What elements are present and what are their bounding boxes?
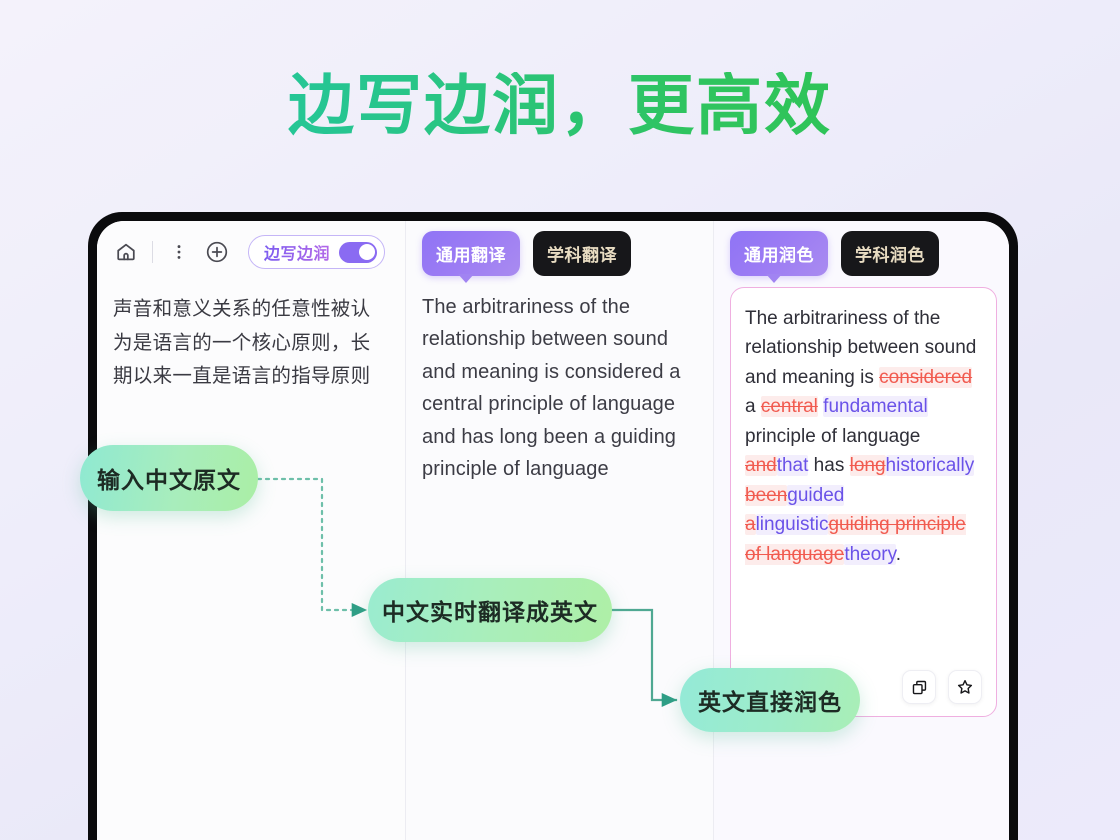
- app-toolbar: 边写边润: [97, 221, 405, 283]
- source-column: 边写边润 声音和意义关系的任意性被认为是语言的一个核心原则，长期以来一直是语言的…: [97, 221, 405, 840]
- mode-toggle-label: 边写边润: [264, 240, 330, 264]
- diff-unchanged: .: [896, 544, 901, 565]
- tab-subject-translation[interactable]: 学科翻译: [533, 231, 631, 276]
- mode-toggle-switch[interactable]: [339, 242, 377, 263]
- home-icon[interactable]: [113, 239, 139, 265]
- diff-insertion: guided: [787, 485, 844, 506]
- toolbar-divider: [152, 241, 153, 263]
- star-icon[interactable]: [948, 670, 982, 704]
- app-screen: 边写边润 声音和意义关系的任意性被认为是语言的一个核心原则，长期以来一直是语言的…: [97, 221, 1009, 840]
- more-vertical-icon[interactable]: [166, 239, 192, 265]
- diff-unchanged: principle of language: [745, 426, 920, 447]
- callout-input-chinese: 输入中文原文: [80, 445, 258, 511]
- diff-deletion: considered: [879, 367, 972, 388]
- source-text[interactable]: 声音和意义关系的任意性被认为是语言的一个核心原则，长期以来一直是语言的指导原则: [97, 283, 405, 394]
- diff-deletion: central: [761, 396, 818, 417]
- mode-toggle[interactable]: 边写边润: [248, 235, 385, 269]
- plus-circle-icon[interactable]: [204, 239, 230, 265]
- tab-general-translation[interactable]: 通用翻译: [422, 231, 520, 276]
- polish-result-card: The arbitrariness of the relationship be…: [730, 287, 997, 717]
- translation-tabs: 通用翻译 学科翻译: [406, 221, 713, 283]
- diff-deletion: been: [745, 485, 787, 506]
- diff-insertion: historically: [886, 455, 975, 476]
- callout-direct-polish: 英文直接润色: [680, 668, 860, 732]
- diff-deletion: and: [745, 455, 777, 476]
- diff-unchanged: a: [745, 396, 761, 417]
- tab-general-polish[interactable]: 通用润色: [730, 231, 828, 276]
- copy-icon[interactable]: [902, 670, 936, 704]
- tab-subject-polish[interactable]: 学科润色: [841, 231, 939, 276]
- device-frame: 边写边润 声音和意义关系的任意性被认为是语言的一个核心原则，长期以来一直是语言的…: [88, 212, 1018, 840]
- polish-diff-text: The arbitrariness of the relationship be…: [745, 304, 982, 660]
- polish-column: 通用润色 学科润色 The arbitrariness of the relat…: [713, 221, 1009, 840]
- page-title: 边写边润，更高效: [0, 72, 1120, 138]
- diff-insertion: linguistic: [756, 514, 829, 535]
- polish-tabs: 通用润色 学科润色: [714, 221, 1009, 283]
- diff-unchanged: has: [808, 455, 849, 476]
- translation-column: 通用翻译 学科翻译 The arbitrariness of the relat…: [405, 221, 713, 840]
- diff-insertion: theory: [844, 544, 895, 565]
- diff-deletion: a: [745, 514, 756, 535]
- diff-deletion: long: [850, 455, 886, 476]
- diff-insertion: fundamental: [823, 396, 928, 417]
- callout-realtime-translate: 中文实时翻译成英文: [368, 578, 612, 642]
- diff-insertion: that: [777, 455, 809, 476]
- translation-text: The arbitrariness of the relationship be…: [406, 283, 713, 485]
